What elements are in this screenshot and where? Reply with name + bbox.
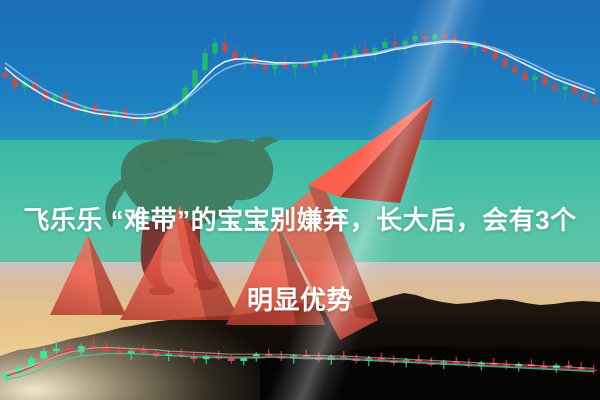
headline-line-2: 明显优势 [0, 280, 600, 320]
promo-banner: 飞乐乐 “难带”的宝宝别嫌弃，长大后，会有3个 明显优势 [0, 0, 600, 400]
page-title: 飞乐乐 “难带”的宝宝别嫌弃，长大后，会有3个 明显优势 [0, 160, 600, 360]
headline-line-1: 飞乐乐 “难带”的宝宝别嫌弃，长大后，会有3个 [0, 200, 600, 240]
